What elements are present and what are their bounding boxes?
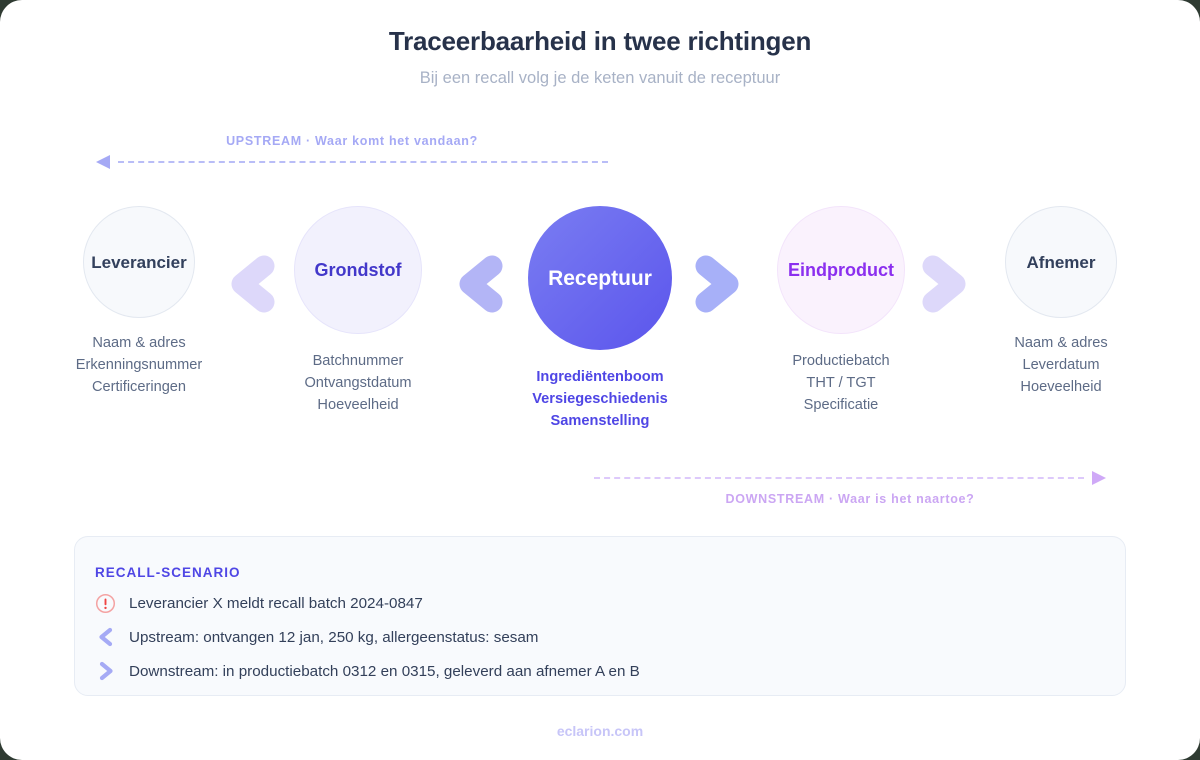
chain-node-circle: Eindproduct	[777, 206, 905, 334]
footer-brand: eclarion.com	[0, 723, 1200, 739]
chevron-left-icon	[448, 252, 508, 316]
chain-node-circle: Leverancier	[83, 206, 195, 318]
chain-node-meta: Naam & adresLeverdatumHoeveelheid	[981, 332, 1141, 398]
chain-node-receptuur: Receptuur IngrediëntenboomVersiegeschied…	[500, 206, 700, 432]
chain-node-afnemer: Afnemer Naam & adresLeverdatumHoeveelhei…	[981, 206, 1141, 398]
chain-node-circle: Afnemer	[1005, 206, 1117, 318]
downstream-dashed-line	[594, 477, 1084, 479]
chain-node-meta: ProductiebatchTHT / TGTSpecificatie	[761, 350, 921, 416]
chain-node-circle: Grondstof	[294, 206, 422, 334]
downstream-label: DOWNSTREAM · Waar is het naartoe?	[594, 492, 1106, 506]
recall-row-alert: Leverancier X meldt recall batch 2024-08…	[95, 586, 1125, 620]
infographic-page: Traceerbaarheid in twee richtingen Bij e…	[0, 0, 1200, 760]
upstream-flow-indicator: UPSTREAM · Waar komt het vandaan?	[96, 134, 608, 176]
recall-row-text: Upstream: ontvangen 12 jan, 250 kg, alle…	[129, 629, 538, 646]
chevron-left-icon	[95, 626, 129, 648]
alert-circle-icon	[95, 593, 129, 614]
recall-scenario-card: RECALL-SCENARIO Leverancier X meldt reca…	[74, 536, 1126, 696]
chain-node-label: Afnemer	[1027, 254, 1096, 271]
recall-row-upstream: Upstream: ontvangen 12 jan, 250 kg, alle…	[95, 620, 1125, 654]
upstream-dashed-line	[118, 161, 608, 163]
page-subtitle: Bij een recall volg je de keten vanuit d…	[0, 69, 1200, 88]
connector-leverancier-grondstof	[220, 252, 280, 316]
chain-node-label: Grondstof	[315, 261, 402, 279]
header: Traceerbaarheid in twee richtingen Bij e…	[0, 26, 1200, 88]
arrow-left-icon	[96, 155, 110, 169]
chain-node-label: Eindproduct	[788, 261, 894, 279]
upstream-label: UPSTREAM · Waar komt het vandaan?	[96, 134, 608, 148]
chain-node-meta: IngrediëntenboomVersiegeschiedenisSamens…	[500, 366, 700, 432]
connector-grondstof-receptuur	[448, 252, 508, 316]
chevron-right-icon	[690, 252, 750, 316]
downstream-flow-indicator: DOWNSTREAM · Waar is het naartoe?	[594, 466, 1106, 512]
recall-row-text: Leverancier X meldt recall batch 2024-08…	[129, 595, 423, 612]
connector-receptuur-eindproduct	[690, 252, 750, 316]
recall-card-title: RECALL-SCENARIO	[95, 565, 1125, 580]
recall-row-downstream: Downstream: in productiebatch 0312 en 03…	[95, 654, 1125, 688]
chevron-right-icon	[95, 660, 129, 682]
page-title: Traceerbaarheid in twee richtingen	[0, 26, 1200, 57]
chain-node-meta: BatchnummerOntvangstdatumHoeveelheid	[278, 350, 438, 416]
chain-node-meta: Naam & adresErkenningsnummerCertificerin…	[59, 332, 219, 398]
chain-node-grondstof: Grondstof BatchnummerOntvangstdatumHoeve…	[278, 206, 438, 416]
arrow-right-icon	[1092, 471, 1106, 485]
chain-node-label: Receptuur	[548, 268, 652, 289]
chain-node-leverancier: Leverancier Naam & adresErkenningsnummer…	[59, 206, 219, 398]
connector-eindproduct-afnemer	[917, 252, 977, 316]
chevron-left-icon	[220, 252, 280, 316]
chain-node-eindproduct: Eindproduct ProductiebatchTHT / TGTSpeci…	[761, 206, 921, 416]
recall-row-text: Downstream: in productiebatch 0312 en 03…	[129, 663, 640, 680]
chain-node-circle: Receptuur	[528, 206, 672, 350]
chevron-right-icon	[917, 252, 977, 316]
chain-node-label: Leverancier	[91, 254, 186, 271]
supply-chain-diagram: Leverancier Naam & adresErkenningsnummer…	[0, 206, 1200, 446]
